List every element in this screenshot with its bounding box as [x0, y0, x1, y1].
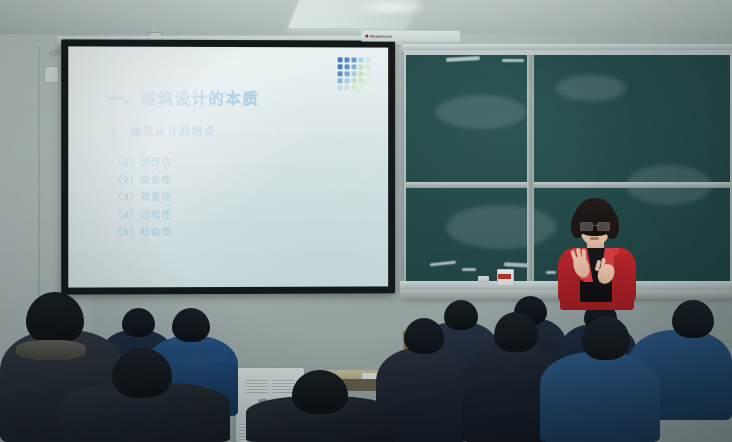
decoration-dot	[351, 57, 356, 62]
student-fur-collar	[16, 340, 86, 360]
decoration-dot	[345, 64, 350, 69]
slide-bullet-item: （3）双重性	[113, 189, 173, 203]
slide-bullet-item: （1）创作性	[113, 154, 173, 168]
student-hood	[160, 348, 226, 364]
projected-slide[interactable]: 一、建筑设计的本质 2．建筑设计的特点 （1）创作性（2）综合性（3）双重性（4…	[68, 46, 388, 287]
slide-title: 一、建筑设计的本质	[107, 87, 259, 109]
decoration-dot	[345, 71, 350, 76]
slide-bullet-item: （4）过程性	[113, 207, 173, 221]
decoration-dot	[351, 78, 356, 83]
student-head	[26, 292, 84, 344]
blackboard-eraser[interactable]	[478, 276, 489, 283]
decoration-dot	[338, 85, 343, 90]
slide-bullet-item: （5）社会性	[113, 224, 173, 238]
radiator-vent	[246, 380, 268, 393]
glasses-icon	[580, 222, 610, 229]
brand-dot-icon	[365, 35, 368, 38]
decoration-dot	[358, 57, 363, 62]
decoration-dot	[365, 57, 370, 62]
decoration-dot	[338, 57, 343, 62]
slide-bullet-item: （2）综合性	[113, 172, 173, 186]
student-head	[292, 370, 348, 414]
decoration-dot	[365, 78, 370, 83]
slide-bullet-list: （1）创作性（2）综合性（3）双重性（4）过程性（5）社会性	[113, 154, 173, 238]
decoration-dot	[345, 78, 350, 83]
chalk-box-label	[498, 274, 511, 279]
slide-dot-matrix-decoration	[338, 57, 371, 90]
projection-screen-frame[interactable]: Realtouch 一、建筑设计的本质 2．建筑设计的特点 （1）创作性（2）综…	[61, 39, 395, 294]
student-body	[540, 352, 660, 442]
instructor-mouth	[590, 237, 599, 240]
device-brand-label: Realtouch	[370, 34, 392, 39]
chalkboard-vertical-divider	[527, 55, 534, 283]
student-head	[444, 300, 478, 330]
ceiling-light-glow	[360, 0, 424, 14]
decoration-dot	[358, 85, 363, 90]
student-head	[122, 308, 155, 337]
decoration-dot	[365, 85, 370, 90]
decoration-dot	[345, 57, 350, 62]
student-head	[494, 312, 538, 352]
decoration-dot	[358, 71, 363, 76]
student-head	[582, 316, 630, 360]
decoration-dot	[351, 71, 356, 76]
decoration-dot	[351, 85, 356, 90]
student-head	[172, 308, 210, 342]
decoration-dot	[345, 85, 350, 90]
classroom-photo: Realtouch 一、建筑设计的本质 2．建筑设计的特点 （1）创作性（2）综…	[0, 0, 732, 442]
chalkboard-middle-rail	[406, 182, 730, 188]
decoration-dot	[338, 64, 343, 69]
device-brand-strip: Realtouch	[361, 31, 460, 42]
decoration-dot	[351, 64, 356, 69]
instructor	[548, 198, 644, 310]
decoration-dot	[358, 64, 363, 69]
decoration-dot	[338, 71, 343, 76]
decoration-dot	[338, 78, 343, 83]
wall-plate	[44, 66, 59, 83]
decoration-dot	[365, 71, 370, 76]
decoration-dot	[365, 64, 370, 69]
radiator-vent	[272, 380, 294, 393]
decoration-dot	[358, 78, 363, 83]
student-head	[404, 318, 444, 354]
student-head	[112, 348, 172, 398]
instructor-arm-right	[614, 254, 636, 304]
student-head	[672, 300, 714, 338]
slide-subtitle: 2．建筑设计的特点	[111, 123, 216, 139]
